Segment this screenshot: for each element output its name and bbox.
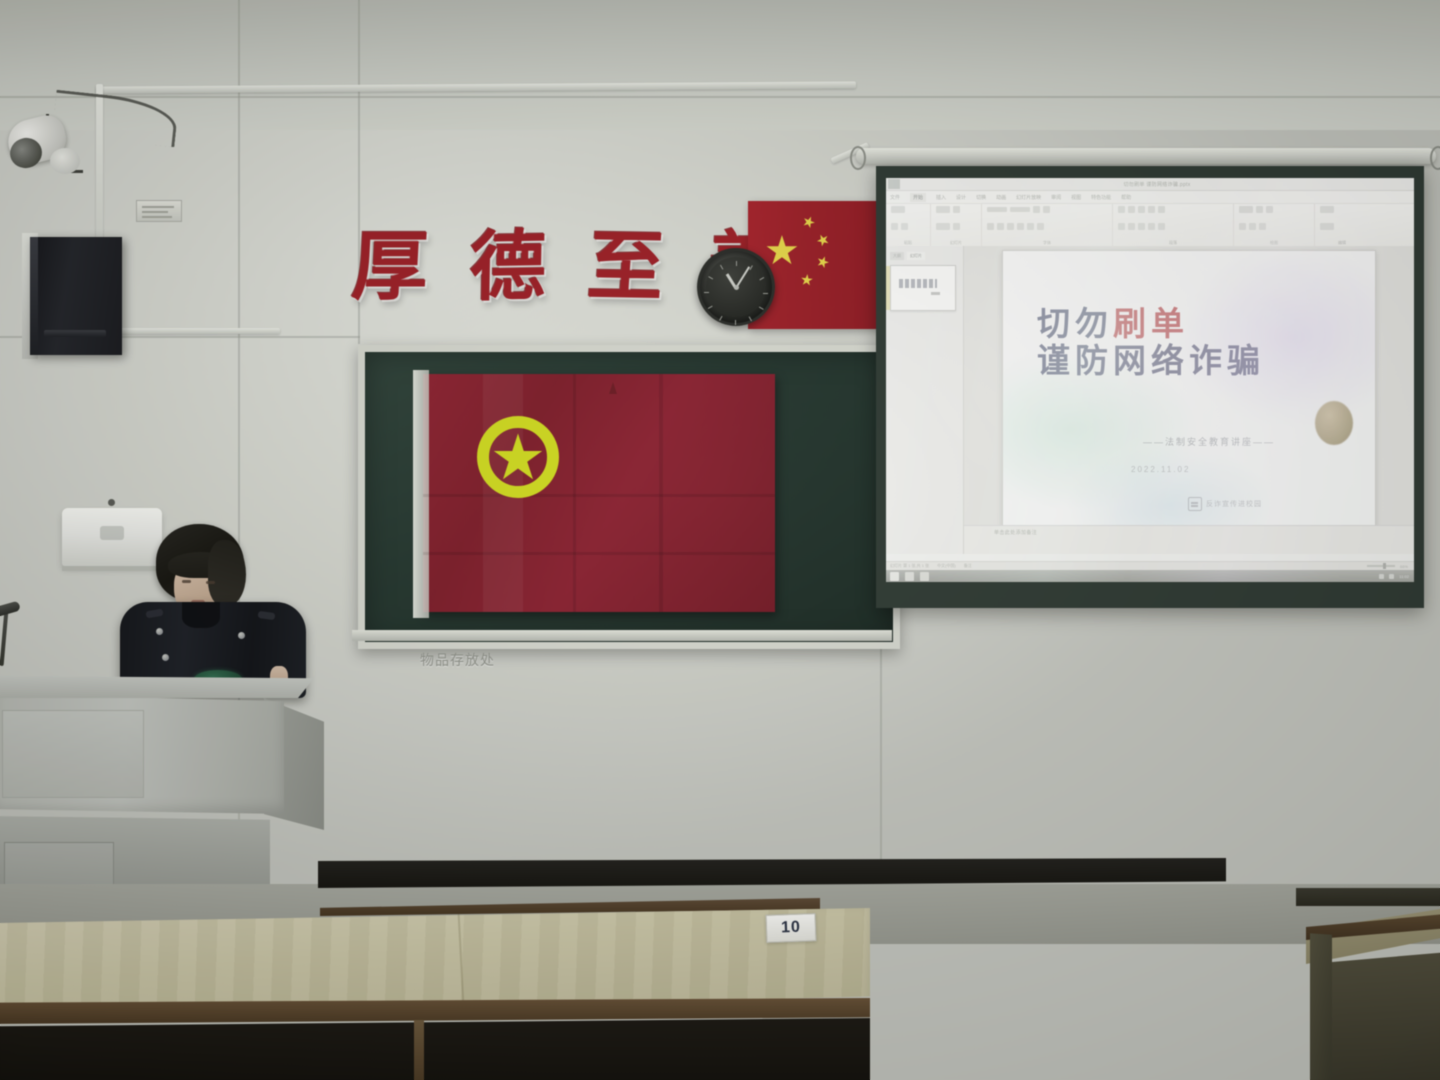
- storage-area-sign: 物品存放处: [420, 650, 510, 672]
- flag-star-small: ★: [814, 253, 832, 272]
- title-char: 骗: [1227, 341, 1265, 380]
- powerpoint-workspace: 大纲 幻灯片 切勿刷单: [886, 246, 1414, 554]
- desk-divider-panel: [414, 1020, 424, 1080]
- status-right-cluster: 66%: [1367, 564, 1408, 569]
- presenter-eye: [182, 580, 191, 583]
- motto-char-3: 至: [585, 228, 666, 305]
- roller-end-right: [1430, 146, 1440, 170]
- slide-title-line-2: 谨防网络诈骗: [1037, 344, 1337, 379]
- tab-home[interactable]: 开始: [910, 193, 926, 202]
- tab-features[interactable]: 特色功能: [1091, 194, 1111, 201]
- ribbon-toolbar: 粘贴 幻灯片 字体 段落: [886, 204, 1414, 249]
- tray-icon[interactable]: [1389, 574, 1394, 579]
- tab-file[interactable]: 文件: [890, 194, 900, 201]
- status-slide-count: 幻灯片 第 1 张,共 1 张: [890, 563, 929, 569]
- student-desk-right: [1306, 908, 1440, 1080]
- security-camera-icon: [2, 108, 88, 186]
- title-char: 切: [1037, 304, 1075, 343]
- thumbnail-subtitle-line: [931, 292, 940, 295]
- clock-center-pin: [734, 285, 739, 290]
- slide-title-line-1: 切勿刷单: [1037, 307, 1337, 342]
- tab-view[interactable]: 视图: [1071, 194, 1081, 201]
- clock-face: [706, 257, 766, 317]
- desk-right-leg: [1310, 933, 1332, 1080]
- system-tray: 11:02: [1379, 574, 1409, 579]
- league-emblem-star-icon: ★: [486, 426, 550, 490]
- desk-right-back-edge: [1296, 888, 1440, 906]
- slide-thumbnail-pane[interactable]: 大纲 幻灯片: [886, 246, 964, 554]
- tab-insert[interactable]: 插入: [936, 194, 946, 201]
- slide-logo-text: 反诈宣传进校园: [1206, 499, 1262, 509]
- classroom-photo-scene: 厚 德 至 善 ★ ★ ★ ★ ★: [0, 0, 1440, 1080]
- wall-clock: [697, 248, 775, 326]
- roller-end-left: [850, 146, 866, 170]
- flag-pin-icon: [609, 382, 617, 394]
- taskbar-app-icon[interactable]: [905, 572, 914, 581]
- title-char-accent: 刷: [1113, 304, 1151, 343]
- thumbnail-title-lines: [899, 279, 937, 288]
- blackboard-chalk-tray: [352, 630, 892, 641]
- podium-panel: [2, 710, 144, 798]
- presenter-eye: [206, 581, 215, 584]
- notes-placeholder: 单击此处添加备注: [994, 529, 1037, 536]
- title-char-accent: 单: [1151, 304, 1189, 343]
- uniform-button: [156, 628, 163, 635]
- projection-screen-roller[interactable]: [856, 148, 1436, 164]
- thumbnail-tab-bar: 大纲 幻灯片: [890, 252, 959, 260]
- slide-background-tint: [1003, 251, 1375, 539]
- wall-seam: [0, 96, 1440, 98]
- notes-pane[interactable]: 单击此处添加备注: [964, 525, 1414, 554]
- projection-screen: 切勿刷单 谨防网络诈骗.pptx 文件 开始 插入 设计 切换 动画 幻灯片放映…: [876, 166, 1424, 608]
- wall-unit-sensor-icon: [108, 499, 115, 506]
- motto-char-2: 德: [469, 228, 546, 305]
- taskbar-clock[interactable]: 11:02: [1399, 574, 1409, 579]
- logo-mark-icon: [1188, 497, 1202, 511]
- ribbon-group-slides[interactable]: 幻灯片: [931, 204, 982, 248]
- uniform-button: [162, 654, 169, 661]
- tab-transitions[interactable]: 切换: [976, 194, 986, 201]
- status-notes-toggle[interactable]: 备注: [964, 563, 972, 569]
- zoom-slider[interactable]: [1367, 565, 1395, 567]
- communist-youth-league-flag: ★: [423, 374, 775, 612]
- windows-taskbar: 11:02: [886, 570, 1414, 582]
- flag-star-small: ★: [800, 213, 818, 232]
- status-bar: 幻灯片 第 1 张,共 1 张 中文(中国) 备注 66%: [886, 561, 1414, 570]
- projector-hotspot-glare: [1315, 401, 1353, 445]
- slide-title[interactable]: 切勿刷单 谨防网络诈骗: [1037, 307, 1337, 378]
- tab-design[interactable]: 设计: [956, 194, 966, 201]
- police-officer-presenter: [118, 524, 308, 694]
- ribbon-group-paste[interactable]: 粘贴: [886, 204, 931, 248]
- slide-canvas[interactable]: 切勿刷单 谨防网络诈骗 ——法制安全教育讲座—— 2022.11.02 反诈宣传…: [964, 246, 1414, 554]
- slide-thumbnail-1[interactable]: [890, 265, 956, 311]
- presenter-collar: [182, 602, 220, 628]
- wall-speaker: [30, 237, 122, 355]
- ribbon-group-paragraph[interactable]: 段落: [1113, 204, 1234, 248]
- wall-upper-shade: [0, 0, 1440, 130]
- title-char: 网: [1113, 341, 1151, 380]
- speaker-grille: [44, 330, 106, 337]
- title-char: 勿: [1075, 304, 1113, 343]
- flag-star-large: ★: [764, 231, 800, 271]
- classroom-blackboard: ★: [358, 345, 900, 649]
- projection-surface: 切勿刷单 谨防网络诈骗.pptx 文件 开始 插入 设计 切换 动画 幻灯片放映…: [886, 178, 1414, 582]
- tab-help[interactable]: 帮助: [1121, 194, 1131, 201]
- ribbon-group-editing[interactable]: 编辑: [1315, 204, 1369, 248]
- desk-under-shadow: [0, 1018, 870, 1080]
- title-char: 防: [1075, 341, 1113, 380]
- podium-top: [0, 676, 314, 698]
- slide-date: 2022.11.02: [1131, 465, 1190, 474]
- powerpoint-titlebar: 切勿刷单 谨防网络诈骗.pptx: [886, 178, 1414, 191]
- ribbon-group-drawing[interactable]: 绘图: [1234, 204, 1315, 248]
- start-button-icon[interactable]: [890, 572, 899, 581]
- document-title: 切勿刷单 谨防网络诈骗.pptx: [900, 181, 1414, 188]
- title-char: 络: [1151, 341, 1189, 380]
- taskbar-app-icon[interactable]: [920, 572, 929, 581]
- lectern-podium: [0, 676, 328, 890]
- ribbon-tab-bar: 文件 开始 插入 设计 切换 动画 幻灯片放映 审阅 视图 特色功能 帮助: [886, 191, 1414, 204]
- thumbnail-tab-outline[interactable]: 大纲: [890, 252, 904, 260]
- zoom-level-label[interactable]: 66%: [1400, 564, 1408, 569]
- camera-mount: [50, 148, 80, 174]
- title-char: 诈: [1189, 341, 1227, 380]
- slide-logo: 反诈宣传进校园: [1188, 497, 1262, 511]
- student-desk-row: [0, 902, 870, 1080]
- thumbnail-tab-slides[interactable]: 幻灯片: [907, 252, 925, 260]
- desk-number-label: 10: [766, 913, 817, 943]
- desk-right-panel: [1328, 952, 1440, 1080]
- tray-icon[interactable]: [1379, 574, 1384, 579]
- current-slide[interactable]: 切勿刷单 谨防网络诈骗 ——法制安全教育讲座—— 2022.11.02 反诈宣传…: [1002, 250, 1376, 540]
- tab-slideshow[interactable]: 幻灯片放映: [1016, 194, 1041, 201]
- wall-plate-sign: [136, 200, 182, 222]
- uniform-button: [238, 632, 245, 639]
- powerpoint-app-icon: [888, 179, 900, 189]
- motto-char-1: 厚: [350, 229, 430, 305]
- wall-conduit-lower: [100, 328, 280, 334]
- slide-subtitle: ——法制安全教育讲座——: [1143, 435, 1275, 448]
- podium-drawer[interactable]: [4, 842, 114, 888]
- tab-animations[interactable]: 动画: [996, 194, 1006, 201]
- tab-review[interactable]: 审阅: [1051, 194, 1061, 201]
- title-char: 谨: [1037, 341, 1075, 380]
- status-language[interactable]: 中文(中国): [937, 563, 956, 569]
- ribbon-group-font[interactable]: 字体: [982, 204, 1113, 248]
- flag-star-small: ★: [799, 272, 814, 288]
- presenter-hair-side: [208, 540, 246, 606]
- flag-star-small: ★: [813, 230, 833, 250]
